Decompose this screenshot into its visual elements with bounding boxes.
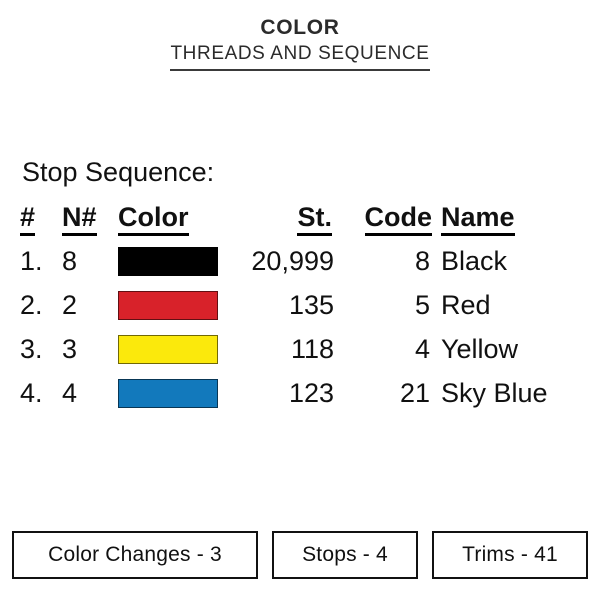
column-header-name-text: Name [441,202,515,236]
cell-index: 3. [20,334,43,364]
cell-name: Red [441,290,491,320]
cell-color-swatch-wrap [118,246,218,276]
table-row: 1. 8 20,999 8 Black [0,246,600,290]
cell-name: Sky Blue [441,378,548,408]
page-subtitle-underline: THREADS AND SEQUENCE [170,43,429,71]
page-title: COLOR [0,16,600,40]
cell-name: Yellow [441,334,518,364]
cell-stitches: 20,999 [218,246,334,276]
cell-color-swatch-wrap [118,334,218,364]
cell-needle: 4 [62,378,77,408]
cell-stitches: 135 [218,290,334,320]
page-subtitle: THREADS AND SEQUENCE [170,43,429,65]
color-swatch [118,379,218,408]
column-header-code-text: Code [365,202,433,236]
stop-sequence-table: # N# Color St. Code Name 1. 8 20,999 8 B… [0,202,600,422]
cell-index: 2. [20,290,43,320]
column-header-index-text: # [20,202,35,236]
column-header-index: # [20,202,35,236]
stats-bar: Color Changes - 3 Stops - 4 Trims - 41 [0,531,600,579]
cell-needle: 3 [62,334,77,364]
cell-index: 1. [20,246,43,276]
table-header-row: # N# Color St. Code Name [0,202,600,246]
cell-code: 21 [338,378,430,408]
column-header-color: Color [118,202,189,236]
cell-stitches: 118 [218,334,334,364]
column-header-needle: N# [62,202,97,236]
cell-color-swatch-wrap [118,378,218,408]
column-header-needle-text: N# [62,202,97,236]
column-header-code: Code [338,202,432,236]
cell-needle: 2 [62,290,77,320]
cell-index: 4. [20,378,43,408]
stat-box-stops: Stops - 4 [272,531,418,579]
cell-needle: 8 [62,246,77,276]
color-swatch [118,335,218,364]
stop-sequence-label: Stop Sequence: [22,157,214,188]
stat-box-color-changes: Color Changes - 3 [12,531,258,579]
color-swatch [118,291,218,320]
table-row: 2. 2 135 5 Red [0,290,600,334]
stat-box-trims: Trims - 41 [432,531,588,579]
color-swatch [118,247,218,276]
column-header-name: Name [441,202,515,236]
cell-color-swatch-wrap [118,290,218,320]
column-header-stitches: St. [218,202,332,236]
cell-stitches: 123 [218,378,334,408]
title-block: COLOR THREADS AND SEQUENCE [0,16,600,71]
column-header-color-text: Color [118,202,189,236]
table-row: 4. 4 123 21 Sky Blue [0,378,600,422]
cell-name: Black [441,246,507,276]
cell-code: 8 [338,246,430,276]
cell-code: 5 [338,290,430,320]
cell-code: 4 [338,334,430,364]
column-header-stitches-text: St. [297,202,332,236]
table-row: 3. 3 118 4 Yellow [0,334,600,378]
